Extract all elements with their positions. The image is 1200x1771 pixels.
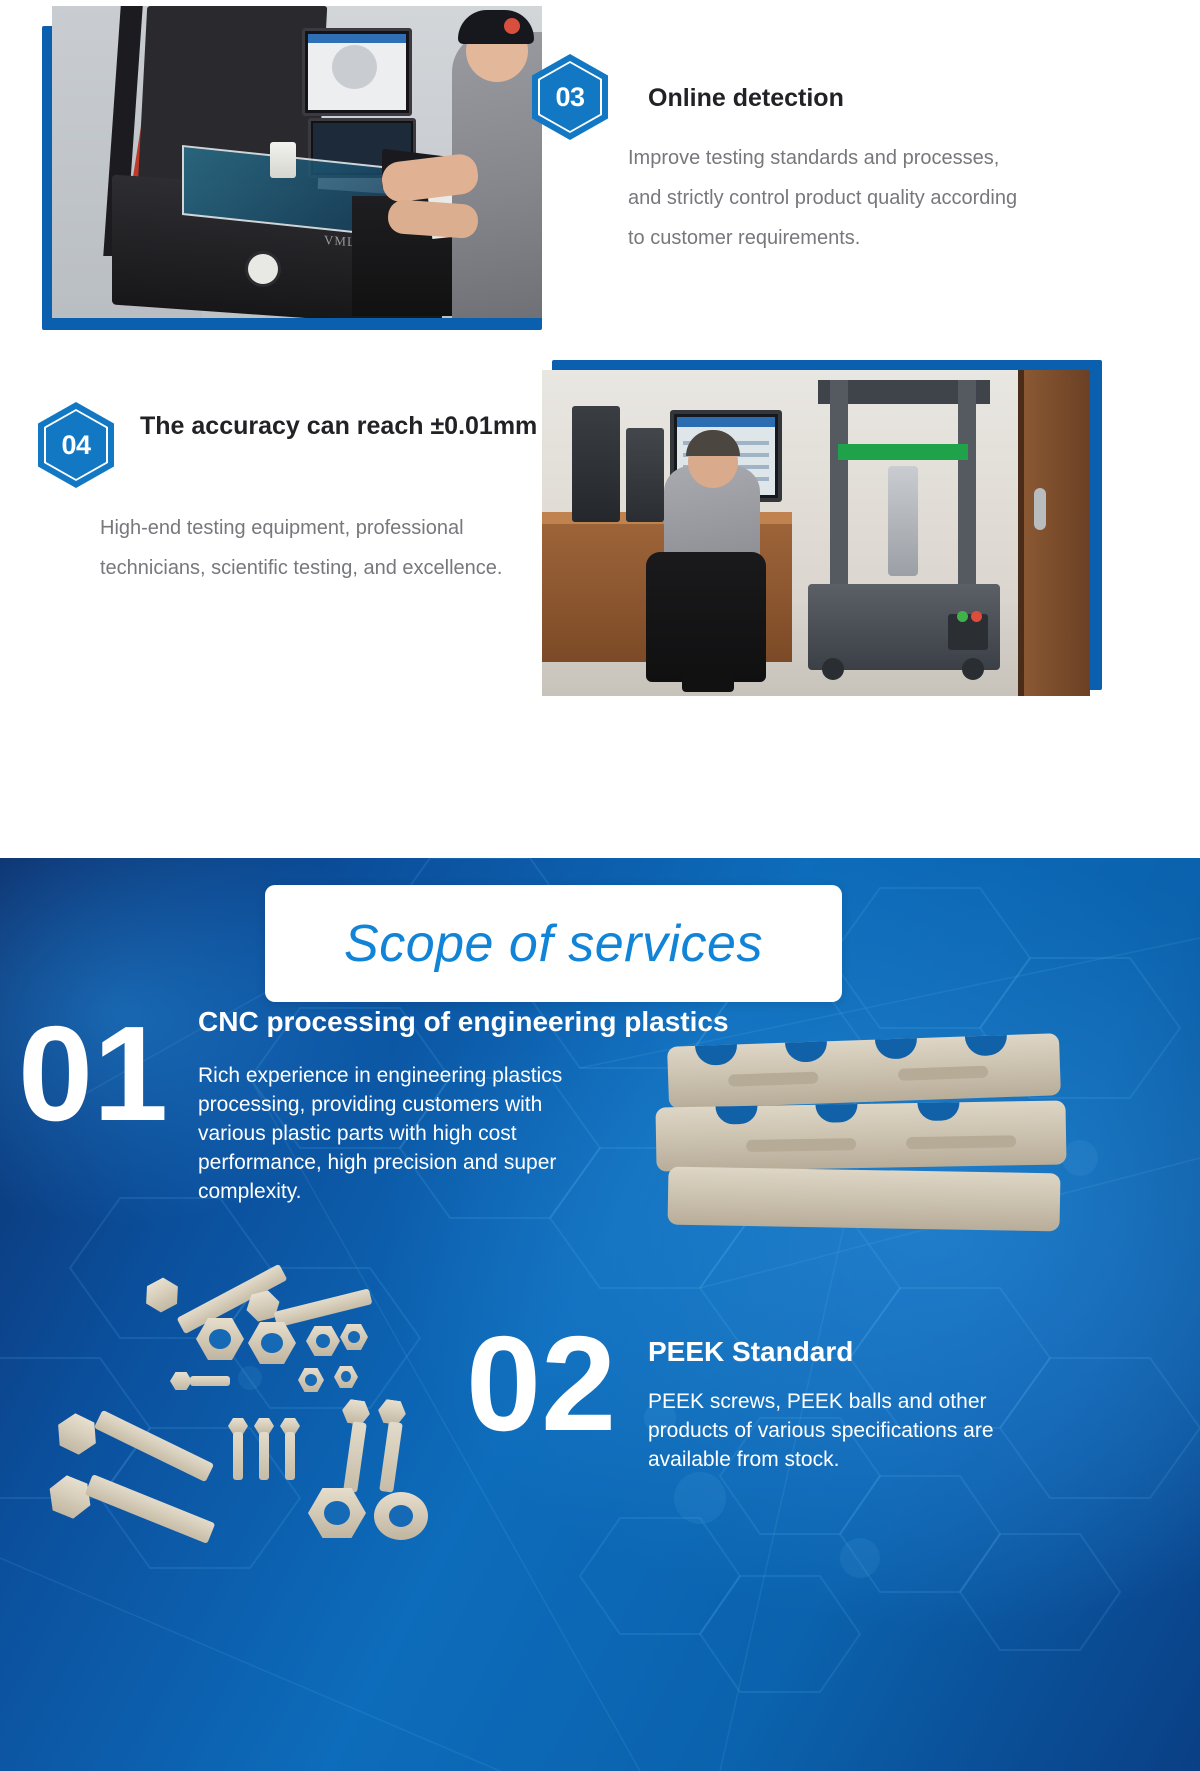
chain-notch — [875, 1038, 918, 1059]
hex-nut — [306, 1326, 340, 1356]
bolt-head — [139, 1273, 185, 1316]
feature-body-03: Improve testing standards and processes,… — [628, 138, 1020, 258]
screw-head — [170, 1372, 192, 1390]
machine-grips — [888, 466, 918, 576]
machine-caster-left — [822, 658, 844, 680]
chain-notch — [815, 1104, 857, 1123]
chair-base — [682, 670, 734, 692]
product-image-peek-chain — [648, 1012, 1068, 1262]
nut-hole — [324, 1501, 350, 1525]
service-number-02: 02 — [466, 1322, 616, 1446]
service-body-01: Rich experience in engineering plastics … — [198, 1062, 613, 1207]
photo-tensile-lab — [542, 360, 1102, 696]
bolt-shaft — [379, 1421, 403, 1492]
chain-slot — [728, 1072, 818, 1087]
chain-notch — [715, 1106, 757, 1125]
page-root: VML300 03 Online detection Improve testi… — [0, 0, 1200, 1771]
bolt-shaft — [274, 1288, 373, 1327]
machine-monitor — [302, 28, 412, 116]
operator-arm-right — [387, 199, 479, 239]
screw-shaft — [233, 1432, 243, 1480]
nut-hole — [305, 1374, 317, 1386]
feature-badge-03: 03 — [532, 54, 608, 140]
lab-door — [1020, 370, 1090, 696]
hex-nut — [334, 1366, 358, 1388]
monitor-titlebar — [308, 34, 406, 43]
chain-plate-row — [655, 1100, 1066, 1171]
door-frame-line — [1018, 370, 1024, 696]
chain-slot — [898, 1066, 988, 1081]
feature-badge-04: 04 — [38, 402, 114, 488]
tensile-machine — [808, 380, 998, 680]
nut-hole — [209, 1329, 231, 1349]
computer-tower-2 — [626, 428, 664, 522]
chain-notch — [965, 1035, 1008, 1056]
cap-logo-icon — [504, 18, 520, 34]
scope-title-text: Scope of services — [344, 914, 763, 974]
hex-nut — [298, 1368, 324, 1392]
features-section: VML300 03 Online detection Improve testi… — [0, 0, 1200, 858]
door-handle-icon — [1034, 488, 1046, 530]
chain-notch — [917, 1102, 959, 1121]
bolt-shaft — [85, 1474, 216, 1544]
machine-control-panel — [948, 614, 988, 650]
screw-shaft — [190, 1376, 230, 1386]
service-title-02: PEEK Standard — [648, 1336, 1068, 1368]
screw-shaft — [285, 1432, 295, 1480]
washer-hole — [389, 1505, 413, 1527]
chain-notch — [695, 1044, 738, 1065]
feature-title-04: The accuracy can reach ±0.01mm — [140, 408, 540, 444]
hex-nut — [340, 1324, 368, 1350]
hex-nut — [248, 1322, 296, 1364]
feature-title-03: Online detection — [648, 80, 1068, 116]
product-image-peek-fasteners — [48, 1272, 478, 1572]
machine-roller — [248, 254, 278, 284]
chain-plate-row — [667, 1033, 1061, 1109]
scope-title-card: Scope of services — [265, 885, 842, 1002]
machine-crosshead — [838, 444, 968, 460]
chain-plate-row — [668, 1167, 1061, 1232]
nut-hole — [316, 1334, 330, 1348]
bolt-shaft — [94, 1410, 214, 1482]
status-led-green-icon — [957, 611, 968, 622]
photo-image-tensile — [542, 370, 1090, 696]
photo-measuring-machine: VML300 — [42, 6, 542, 330]
machine-column-right — [958, 380, 976, 600]
operator-cap — [458, 10, 534, 44]
service-number-01: 01 — [18, 1012, 168, 1136]
bolt-head — [50, 1409, 104, 1460]
chain-slot — [746, 1138, 856, 1152]
specimen — [270, 142, 296, 178]
feature-body-04: High-end testing equipment, professional… — [100, 508, 530, 588]
service-body-02: PEEK screws, PEEK balls and other produc… — [648, 1388, 1048, 1475]
nut-hole — [348, 1331, 360, 1343]
office-chair — [646, 552, 766, 682]
chain-slot — [906, 1135, 1016, 1149]
nut-hole — [261, 1333, 283, 1353]
washer-ring — [374, 1492, 428, 1540]
hex-nut — [308, 1488, 366, 1538]
machine-caster-right — [962, 658, 984, 680]
feature-number-04: 04 — [38, 402, 114, 488]
feature-number-03: 03 — [532, 54, 608, 140]
bolt-head — [42, 1471, 97, 1523]
status-led-red-icon — [971, 611, 982, 622]
monitor-part-outline — [332, 45, 377, 89]
nut-hole — [341, 1371, 351, 1382]
screw-shaft — [259, 1432, 269, 1480]
computer-tower-1 — [572, 406, 620, 522]
bolt-shaft — [343, 1421, 367, 1492]
photo-image-measuring: VML300 — [52, 6, 542, 318]
monitor-screen — [308, 34, 406, 110]
machine-column-left — [830, 380, 848, 600]
chain-notch — [785, 1041, 828, 1062]
software-titlebar — [677, 417, 775, 427]
